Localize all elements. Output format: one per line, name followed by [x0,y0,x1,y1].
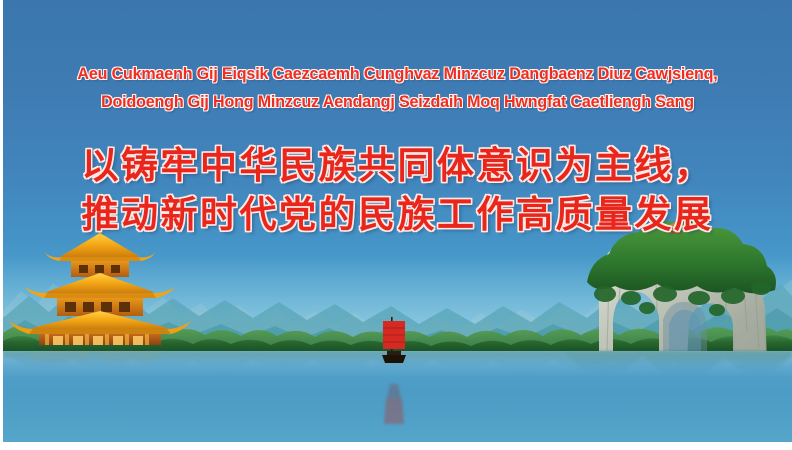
scene-canvas: Aeu Cukmaenh Gij Eiqsik Caezcaemh Cunghv… [3,0,792,442]
headline-latin-line-2: Doidoengh Gij Hong Minzcuz Aendangj Seiz… [9,88,786,116]
red-sail-boat [375,313,409,369]
boat-reflection [375,378,409,424]
banner-poster: Aeu Cukmaenh Gij Eiqsik Caezcaemh Cunghv… [0,0,792,450]
headline-chinese-line-2: 推动新时代党的民族工作高质量发展 [3,191,792,238]
headline-chinese-line-1: 以铸牢中华民族共同体意识为主线， [3,142,792,189]
headline-latin-line-1: Aeu Cukmaenh Gij Eiqsik Caezcaemh Cunghv… [9,60,786,88]
headline-text-block: Aeu Cukmaenh Gij Eiqsik Caezcaemh Cunghv… [3,60,792,238]
